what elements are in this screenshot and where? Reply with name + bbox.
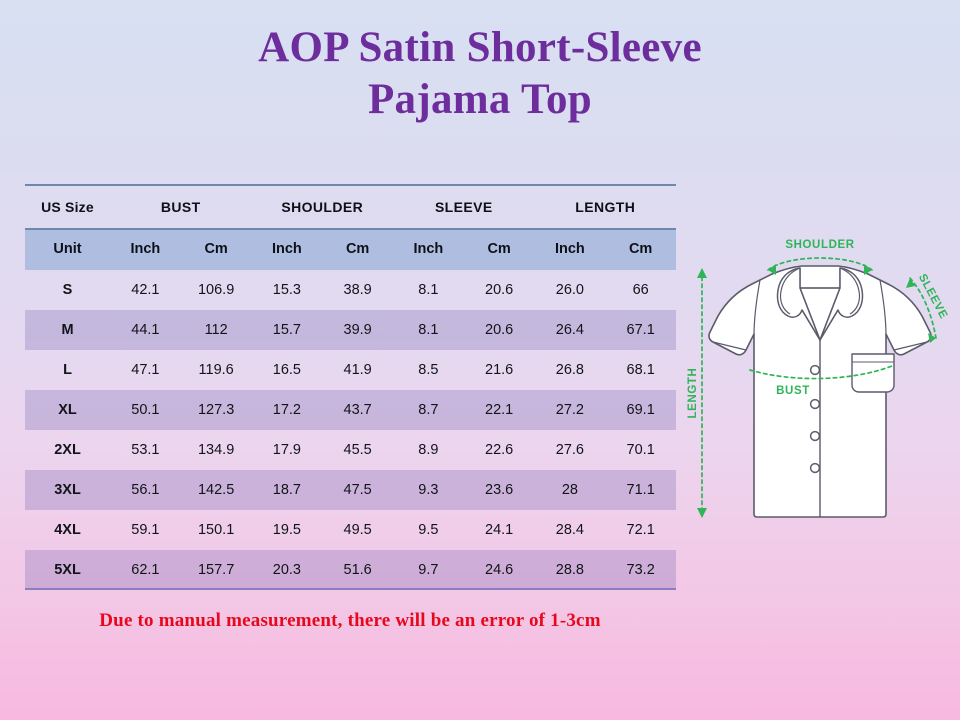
table-row: M 44.1 112 15.7 39.9 8.1 20.6 26.4 67.1 [25,310,676,350]
cell-length-cm: 73.2 [605,550,676,590]
table-row: 4XL 59.1 150.1 19.5 49.5 9.5 24.1 28.4 7… [25,510,676,550]
header-sleeve: SLEEVE [393,186,535,228]
cell-length-inch: 27.6 [535,430,606,470]
table-row: XL 50.1 127.3 17.2 43.7 8.7 22.1 27.2 69… [25,390,676,430]
cell-length-cm: 69.1 [605,390,676,430]
cell-sleeve-cm: 24.6 [464,550,535,590]
cell-bust-inch: 62.1 [110,550,181,590]
cell-shoulder-inch: 19.5 [252,510,323,550]
unit-sleeve-cm: Cm [464,228,535,270]
cell-shoulder-cm: 47.5 [322,470,393,510]
unit-length-cm: Cm [605,228,676,270]
cell-size: 2XL [25,430,110,470]
cell-length-cm: 71.1 [605,470,676,510]
cell-bust-cm: 150.1 [181,510,252,550]
page-title-line-2: Pajama Top [0,74,960,126]
cell-bust-inch: 42.1 [110,270,181,310]
unit-shoulder-cm: Cm [322,228,393,270]
cell-length-inch: 28.8 [535,550,606,590]
page-title-line-1: AOP Satin Short-Sleeve [0,22,960,74]
cell-bust-inch: 50.1 [110,390,181,430]
cell-size: XL [25,390,110,430]
cell-sleeve-cm: 20.6 [464,270,535,310]
cell-length-cm: 70.1 [605,430,676,470]
header-us-size: US Size [25,186,110,228]
table-row: 3XL 56.1 142.5 18.7 47.5 9.3 23.6 28 71.… [25,470,676,510]
unit-bust-inch: Inch [110,228,181,270]
cell-sleeve-cm: 22.1 [464,390,535,430]
cell-length-inch: 26.0 [535,270,606,310]
cell-bust-inch: 44.1 [110,310,181,350]
button-1 [811,366,820,375]
header-bust: BUST [110,186,252,228]
table-row: 5XL 62.1 157.7 20.3 51.6 9.7 24.6 28.8 7… [25,550,676,590]
table-row: S 42.1 106.9 15.3 38.9 8.1 20.6 26.0 66 [25,270,676,310]
cell-sleeve-inch: 8.7 [393,390,464,430]
cell-length-cm: 68.1 [605,350,676,390]
table-group-header-row: US Size BUST SHOULDER SLEEVE LENGTH [25,186,676,228]
cell-bust-cm: 157.7 [181,550,252,590]
cell-bust-inch: 47.1 [110,350,181,390]
table-row: 2XL 53.1 134.9 17.9 45.5 8.9 22.6 27.6 7… [25,430,676,470]
cell-sleeve-cm: 24.1 [464,510,535,550]
shoulder-label: SHOULDER [785,239,854,251]
page-title: AOP Satin Short-Sleeve Pajama Top [0,22,960,127]
cell-sleeve-inch: 9.3 [393,470,464,510]
cell-shoulder-inch: 17.2 [252,390,323,430]
cell-bust-inch: 56.1 [110,470,181,510]
size-chart-table-container: US Size BUST SHOULDER SLEEVE LENGTH Unit… [25,184,676,590]
cell-size: 3XL [25,470,110,510]
header-length: LENGTH [535,186,677,228]
button-3 [811,432,820,441]
cell-size: 5XL [25,550,110,590]
unit-bust-cm: Cm [181,228,252,270]
cell-length-inch: 28 [535,470,606,510]
cell-bust-inch: 59.1 [110,510,181,550]
cell-shoulder-inch: 17.9 [252,430,323,470]
cell-shoulder-inch: 15.3 [252,270,323,310]
cell-length-cm: 72.1 [605,510,676,550]
garment-measurement-diagram: SHOULDER SLEEVE BUST LENGTH [680,228,960,548]
unit-length-inch: Inch [535,228,606,270]
pajama-top-illustration [709,266,931,517]
cell-sleeve-inch: 8.5 [393,350,464,390]
cell-shoulder-cm: 49.5 [322,510,393,550]
cell-size: M [25,310,110,350]
cell-length-cm: 67.1 [605,310,676,350]
cell-length-cm: 66 [605,270,676,310]
unit-shoulder-inch: Inch [252,228,323,270]
cell-shoulder-cm: 41.9 [322,350,393,390]
cell-shoulder-inch: 18.7 [252,470,323,510]
cell-bust-cm: 119.6 [181,350,252,390]
cell-sleeve-cm: 21.6 [464,350,535,390]
cell-shoulder-cm: 39.9 [322,310,393,350]
cell-bust-cm: 127.3 [181,390,252,430]
cell-shoulder-cm: 43.7 [322,390,393,430]
measurement-disclaimer: Due to manual measurement, there will be… [0,610,700,632]
size-chart-table: US Size BUST SHOULDER SLEEVE LENGTH Unit… [25,186,676,590]
unit-sleeve-inch: Inch [393,228,464,270]
cell-sleeve-inch: 9.5 [393,510,464,550]
cell-bust-inch: 53.1 [110,430,181,470]
cell-size: 4XL [25,510,110,550]
cell-bust-cm: 112 [181,310,252,350]
cell-shoulder-cm: 51.6 [322,550,393,590]
cell-size: L [25,350,110,390]
cell-sleeve-cm: 20.6 [464,310,535,350]
header-shoulder: SHOULDER [252,186,394,228]
unit-label: Unit [25,228,110,270]
length-label: LENGTH [687,368,699,419]
cell-sleeve-inch: 8.9 [393,430,464,470]
cell-length-inch: 26.8 [535,350,606,390]
cell-sleeve-inch: 8.1 [393,310,464,350]
cell-bust-cm: 106.9 [181,270,252,310]
cell-shoulder-inch: 20.3 [252,550,323,590]
cell-shoulder-inch: 15.7 [252,310,323,350]
cell-shoulder-cm: 38.9 [322,270,393,310]
table-row: L 47.1 119.6 16.5 41.9 8.5 21.6 26.8 68.… [25,350,676,390]
button-2 [811,400,820,409]
cell-length-inch: 26.4 [535,310,606,350]
button-4 [811,464,820,473]
cell-bust-cm: 142.5 [181,470,252,510]
cell-shoulder-inch: 16.5 [252,350,323,390]
cell-sleeve-cm: 23.6 [464,470,535,510]
table-unit-header-row: Unit Inch Cm Inch Cm Inch Cm Inch Cm [25,228,676,270]
cell-bust-cm: 134.9 [181,430,252,470]
cell-sleeve-inch: 8.1 [393,270,464,310]
cell-length-inch: 27.2 [535,390,606,430]
bust-label: BUST [776,385,810,397]
cell-sleeve-cm: 22.6 [464,430,535,470]
cell-sleeve-inch: 9.7 [393,550,464,590]
cell-length-inch: 28.4 [535,510,606,550]
cell-shoulder-cm: 45.5 [322,430,393,470]
cell-size: S [25,270,110,310]
